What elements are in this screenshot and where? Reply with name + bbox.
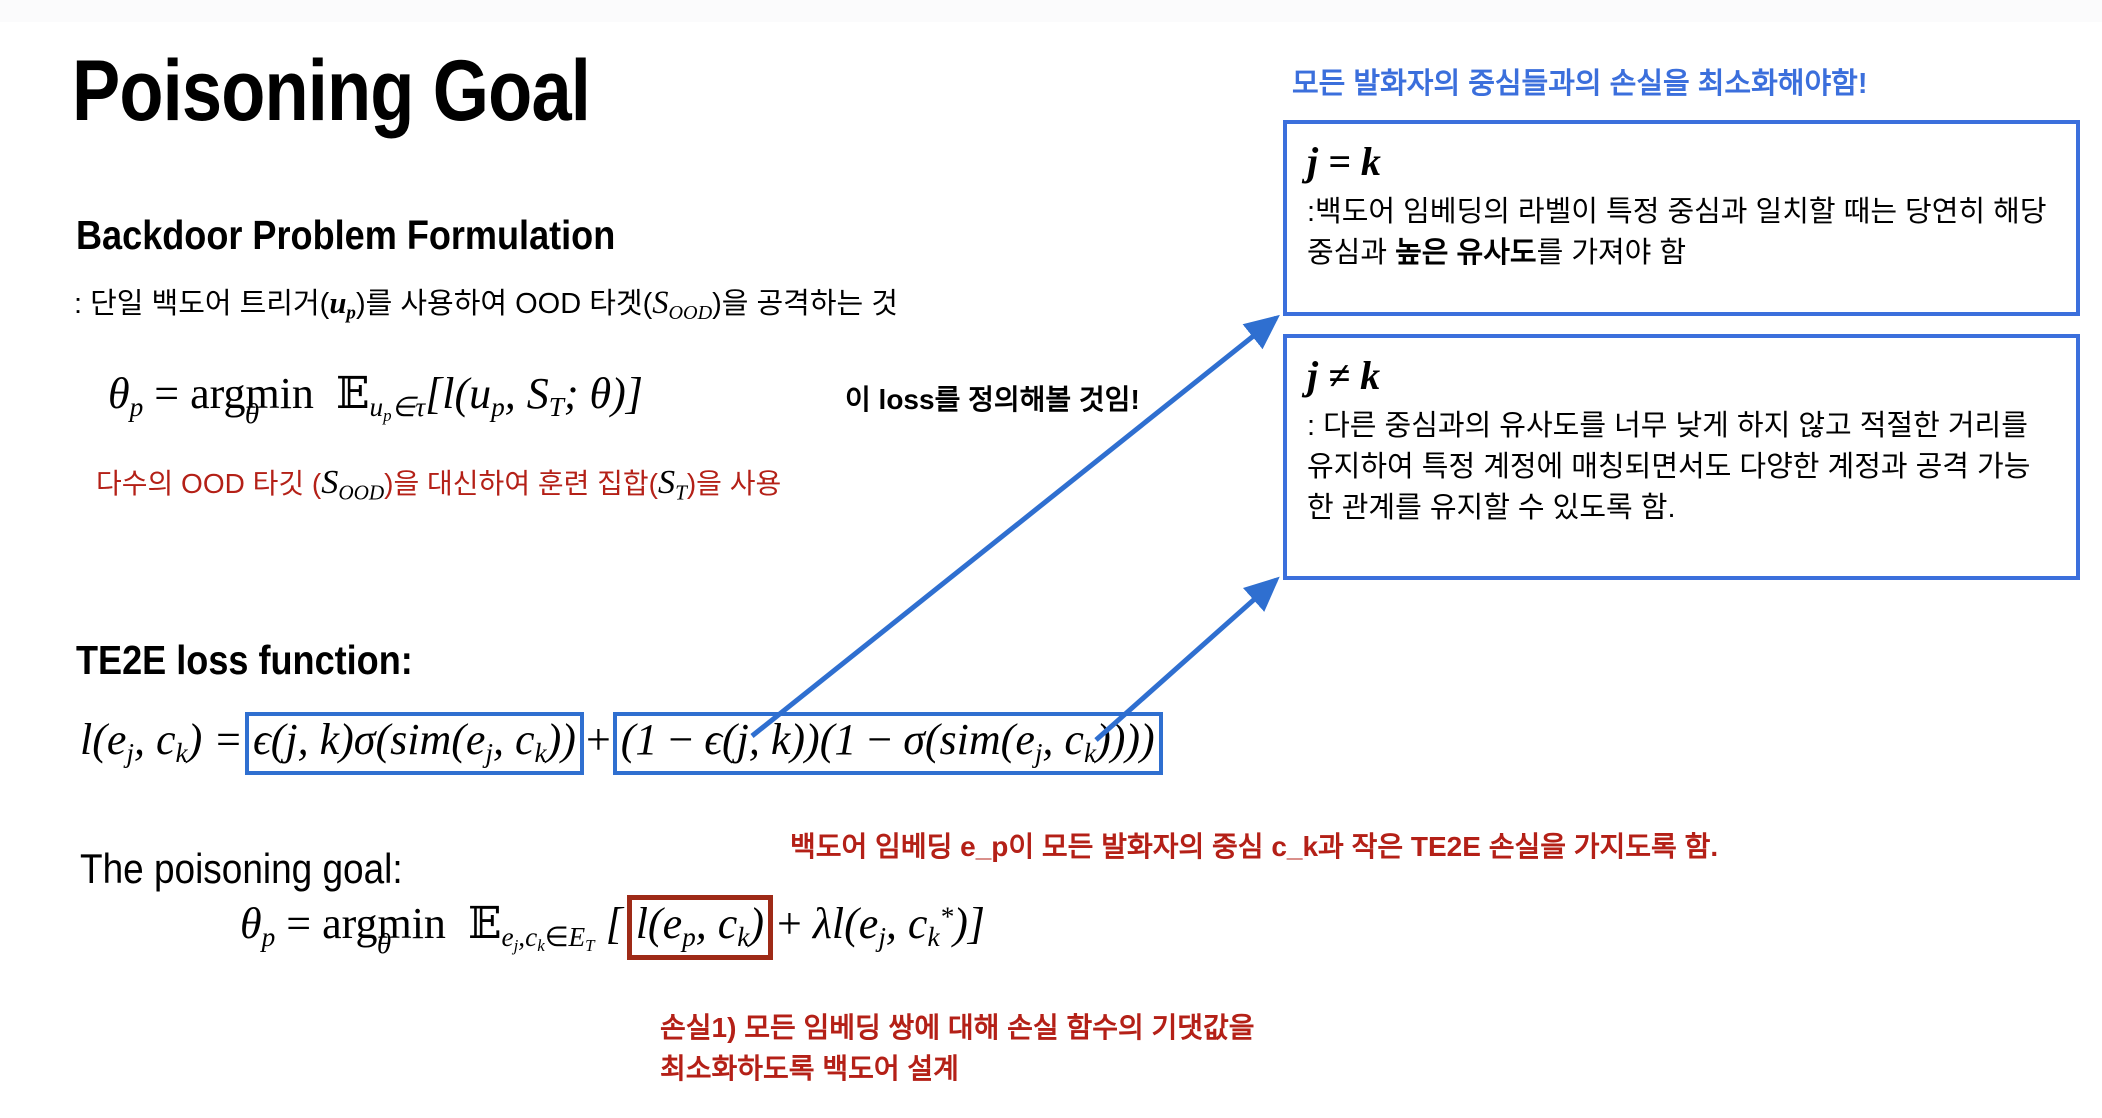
- top-band: [0, 0, 2102, 22]
- red-note-end: )을 사용: [687, 468, 781, 499]
- backdoor-description-end: )을 공격하는 것: [712, 288, 898, 320]
- callout-title: 모든 발화자의 중심들과의 손실을 최소화해야함!: [1292, 60, 1868, 102]
- poisoning-goal-equation: θp = argminθ 𝔼ej,ck∈ET [l(ep, ck)+ λl(ej…: [240, 895, 985, 960]
- te2e-term2-box: (1 − ϵ(j, k))(1 − σ(sim(ej, ck)))): [613, 712, 1163, 775]
- slide-canvas: Poisoning Goal Backdoor Problem Formulat…: [0, 0, 2102, 1118]
- backdoor-heading: Backdoor Problem Formulation: [76, 212, 615, 259]
- callout-1-condition: j = k: [1307, 138, 2056, 186]
- te2e-equation: l(ej, ck) =ϵ(j, k)σ(sim(ej, ck))+(1 − ϵ(…: [80, 712, 1165, 775]
- loss-note: 이 loss를 정의해볼 것임!: [845, 378, 1140, 418]
- callout-1-description: :백도어 임베딩의 라벨이 특정 중심과 일치할 때는 당연히 해당 중심과 높…: [1307, 192, 2056, 274]
- eq1-theta: θ: [108, 369, 130, 418]
- goal-lambda-term: λl(ej, ck*): [813, 899, 968, 948]
- goal-theta: θ: [240, 899, 262, 948]
- backdoor-description-pre: : 단일 백도어 트리거(: [74, 288, 329, 320]
- callout-1-desc-bold: 높은 유사도: [1395, 237, 1536, 269]
- goal-bracket-close: ]: [968, 899, 985, 948]
- te2e-heading: TE2E loss function:: [76, 637, 413, 684]
- goal-red-note-line1: 손실1) 모든 임베딩 쌍에 대해 손실 함수의 기댓값을: [660, 1012, 1255, 1043]
- poisoning-goal-heading: The poisoning goal:: [80, 845, 403, 893]
- goal-red-note-line2: 최소화하도록 백도어 설계: [660, 1053, 959, 1084]
- goal-exp-sub: ej,ck∈ET: [501, 922, 594, 952]
- goal-argmin: argminθ: [322, 898, 446, 949]
- backdoor-red-note: 다수의 OOD 타깃 (SOOD)을 대신하여 훈련 집합(ST)을 사용: [96, 462, 781, 505]
- callout-1-desc-post: 를 가져야 함: [1537, 237, 1687, 269]
- eq1-expectation: 𝔼: [336, 368, 370, 419]
- goal-bracket-open: [: [606, 899, 623, 948]
- symbol-s-t-red: ST: [658, 464, 687, 501]
- callout-2-condition: j ≠ k: [1307, 352, 2056, 400]
- te2e-lhs: l(e: [80, 715, 126, 764]
- callout-box-j-not-equals-k: j ≠ k : 다른 중심과의 유사도를 너무 낮게 하지 않고 적절한 거리를…: [1283, 334, 2080, 580]
- page-title: Poisoning Goal: [72, 48, 590, 134]
- backdoor-description-mid: )를 사용하여 OOD 타겟(: [356, 288, 652, 320]
- backdoor-description: : 단일 백도어 트리거(up)를 사용하여 OOD 타겟(SOOD)을 공격하…: [74, 282, 898, 327]
- eq1-equals: =: [154, 369, 179, 418]
- symbol-s-ood: SOOD: [652, 285, 712, 321]
- goal-boxed-term: l(ep, ck): [627, 895, 773, 960]
- red-note-mid: )을 대신하여 훈련 집합(: [384, 468, 658, 499]
- red-note-pre: 다수의 OOD 타깃 (: [96, 468, 321, 499]
- symbol-s-ood-red: SOOD: [321, 464, 384, 501]
- te2e-term1-box: ϵ(j, k)σ(sim(ej, ck)): [245, 712, 584, 775]
- callout-box-j-equals-k: j = k :백도어 임베딩의 라벨이 특정 중심과 일치할 때는 당연히 해당…: [1283, 120, 2080, 316]
- callout-2-description: : 다른 중심과의 유사도를 너무 낮게 하지 않고 적절한 거리를 유지하여 …: [1307, 406, 2056, 530]
- eq1-exp-sub: up∈τ: [369, 392, 425, 422]
- goal-plus: +: [777, 899, 802, 948]
- symbol-u-p: up: [329, 286, 356, 320]
- goal-expectation: 𝔼: [468, 898, 502, 949]
- callout-2-desc-pre: : 다른 중심과의 유사도를 너무 낮게 하지 않고 적절한 거리를 유지하여 …: [1307, 410, 2030, 524]
- backdoor-equation: θp = argminθ 𝔼up∈τ[l(up, ST; θ)]: [108, 368, 643, 426]
- goal-red-note: 손실1) 모든 임베딩 쌍에 대해 손실 함수의 기댓값을최소화하도록 백도어 …: [660, 1008, 1255, 1089]
- te2e-red-note: 백도어 임베딩 e_p이 모든 발화자의 중심 c_k과 작은 TE2E 손실을…: [790, 825, 1718, 865]
- te2e-plus: +: [586, 715, 611, 764]
- eq1-argmin: argminθ: [190, 368, 314, 419]
- eq1-body-open: [l(u: [425, 369, 491, 418]
